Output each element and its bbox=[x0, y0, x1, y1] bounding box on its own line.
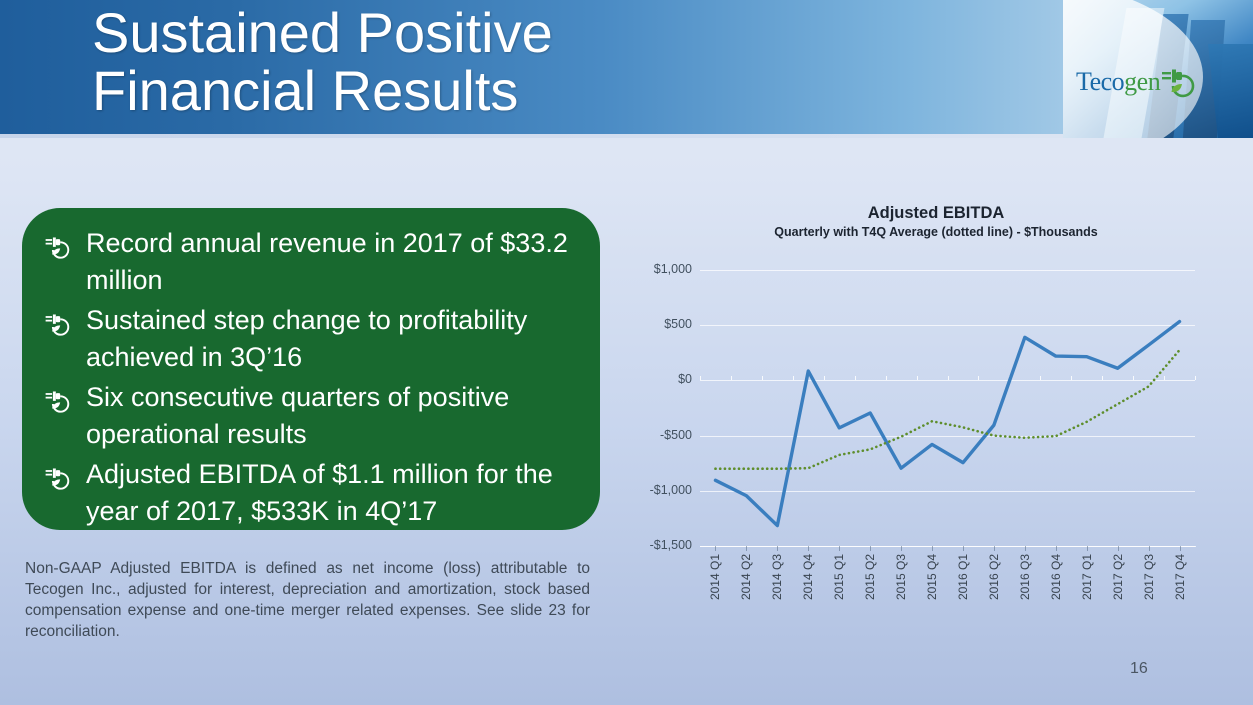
bullet-text: Six consecutive quarters of positive ope… bbox=[86, 378, 580, 453]
y-axis-tick-label: -$1,500 bbox=[612, 538, 692, 552]
x-axis-tick-label: 2016 Q3 bbox=[1018, 554, 1032, 600]
bullet-text: Sustained step change to profitability a… bbox=[86, 301, 580, 376]
tecogen-plug-leaf-icon bbox=[44, 465, 86, 499]
x-axis-tick-label: 2014 Q2 bbox=[739, 554, 753, 600]
adjusted-ebitda-chart: Adjusted EBITDA Quarterly with T4Q Avera… bbox=[636, 196, 1236, 626]
bullet-item: Six consecutive quarters of positive ope… bbox=[44, 378, 580, 453]
x-axis-tick-label: 2017 Q2 bbox=[1111, 554, 1125, 600]
x-axis-tick-mark bbox=[808, 546, 809, 551]
x-axis-tick-label: 2015 Q3 bbox=[894, 554, 908, 600]
footnote-text: Non-GAAP Adjusted EBITDA is defined as n… bbox=[25, 558, 590, 642]
x-axis-tick-label: 2017 Q4 bbox=[1173, 554, 1187, 600]
bullet-text: Record annual revenue in 2017 of $33.2 m… bbox=[86, 224, 580, 299]
chart-x-axis bbox=[700, 546, 1196, 547]
x-axis-tick-mark bbox=[839, 546, 840, 551]
x-axis-tick-mark bbox=[777, 546, 778, 551]
y-axis-tick-label: -$1,000 bbox=[612, 483, 692, 497]
x-axis-tick-label: 2016 Q2 bbox=[987, 554, 1001, 600]
chart-subtitle: Quarterly with T4Q Average (dotted line)… bbox=[636, 225, 1236, 239]
x-axis-tick-label: 2015 Q4 bbox=[925, 554, 939, 600]
bullet-text: Adjusted EBITDA of $1.1 million for the … bbox=[86, 455, 580, 530]
chart-series-layer bbox=[700, 270, 1195, 546]
chart-series-line bbox=[715, 322, 1179, 526]
tecogen-plug-leaf-icon bbox=[44, 388, 86, 422]
x-axis-tick-mark bbox=[870, 546, 871, 551]
x-axis-tick-mark bbox=[1025, 546, 1026, 551]
x-axis-tick-mark bbox=[901, 546, 902, 551]
page-number: 16 bbox=[1130, 660, 1148, 678]
x-axis-tick-label: 2014 Q1 bbox=[708, 554, 722, 600]
plug-leaf-icon bbox=[1161, 65, 1203, 99]
x-axis-tick-mark bbox=[715, 546, 716, 551]
x-axis-tick-label: 2015 Q2 bbox=[863, 554, 877, 600]
x-axis-tick-label: 2015 Q1 bbox=[832, 554, 846, 600]
x-axis-tick-mark bbox=[963, 546, 964, 551]
logo-word-teco: Teco bbox=[1076, 67, 1124, 96]
x-axis-tick-mark bbox=[746, 546, 747, 551]
highlights-box: Record annual revenue in 2017 of $33.2 m… bbox=[22, 208, 600, 530]
x-axis-tick-label: 2016 Q4 bbox=[1049, 554, 1063, 600]
x-axis-tick-mark bbox=[994, 546, 995, 551]
x-axis-tick-label: 2014 Q4 bbox=[801, 554, 815, 600]
x-axis-tick-label: 2017 Q3 bbox=[1142, 554, 1156, 600]
x-axis-tick-mark bbox=[1087, 546, 1088, 551]
page-title: Sustained Positive Financial Results bbox=[92, 4, 553, 120]
logo-word-gen: gen bbox=[1124, 67, 1160, 96]
x-axis-tick-mark bbox=[1149, 546, 1150, 551]
chart-title: Adjusted EBITDA bbox=[636, 204, 1236, 223]
tecogen-plug-leaf-icon bbox=[44, 234, 86, 268]
y-axis-tick-label: $1,000 bbox=[612, 262, 692, 276]
x-axis-tick-mark bbox=[1180, 546, 1181, 551]
zero-axis-tick bbox=[1195, 376, 1196, 380]
x-axis-tick-label: 2017 Q1 bbox=[1080, 554, 1094, 600]
tecogen-logo: Tecogen bbox=[1076, 63, 1226, 101]
x-axis-tick-mark bbox=[1056, 546, 1057, 551]
y-axis-tick-label: $500 bbox=[612, 317, 692, 331]
bullet-item: Record annual revenue in 2017 of $33.2 m… bbox=[44, 224, 580, 299]
tecogen-plug-leaf-icon bbox=[44, 311, 86, 345]
bullet-item: Sustained step change to profitability a… bbox=[44, 301, 580, 376]
chart-series-line bbox=[715, 350, 1179, 469]
y-axis-tick-label: -$500 bbox=[612, 428, 692, 442]
x-axis-tick-label: 2014 Q3 bbox=[770, 554, 784, 600]
x-axis-tick-mark bbox=[1118, 546, 1119, 551]
x-axis-tick-label: 2016 Q1 bbox=[956, 554, 970, 600]
tecogen-logo-panel: Tecogen bbox=[1063, 0, 1253, 138]
x-axis-tick-mark bbox=[932, 546, 933, 551]
tecogen-wordmark: Tecogen bbox=[1076, 69, 1160, 95]
y-axis-tick-label: $0 bbox=[612, 372, 692, 386]
bullet-item: Adjusted EBITDA of $1.1 million for the … bbox=[44, 455, 580, 530]
